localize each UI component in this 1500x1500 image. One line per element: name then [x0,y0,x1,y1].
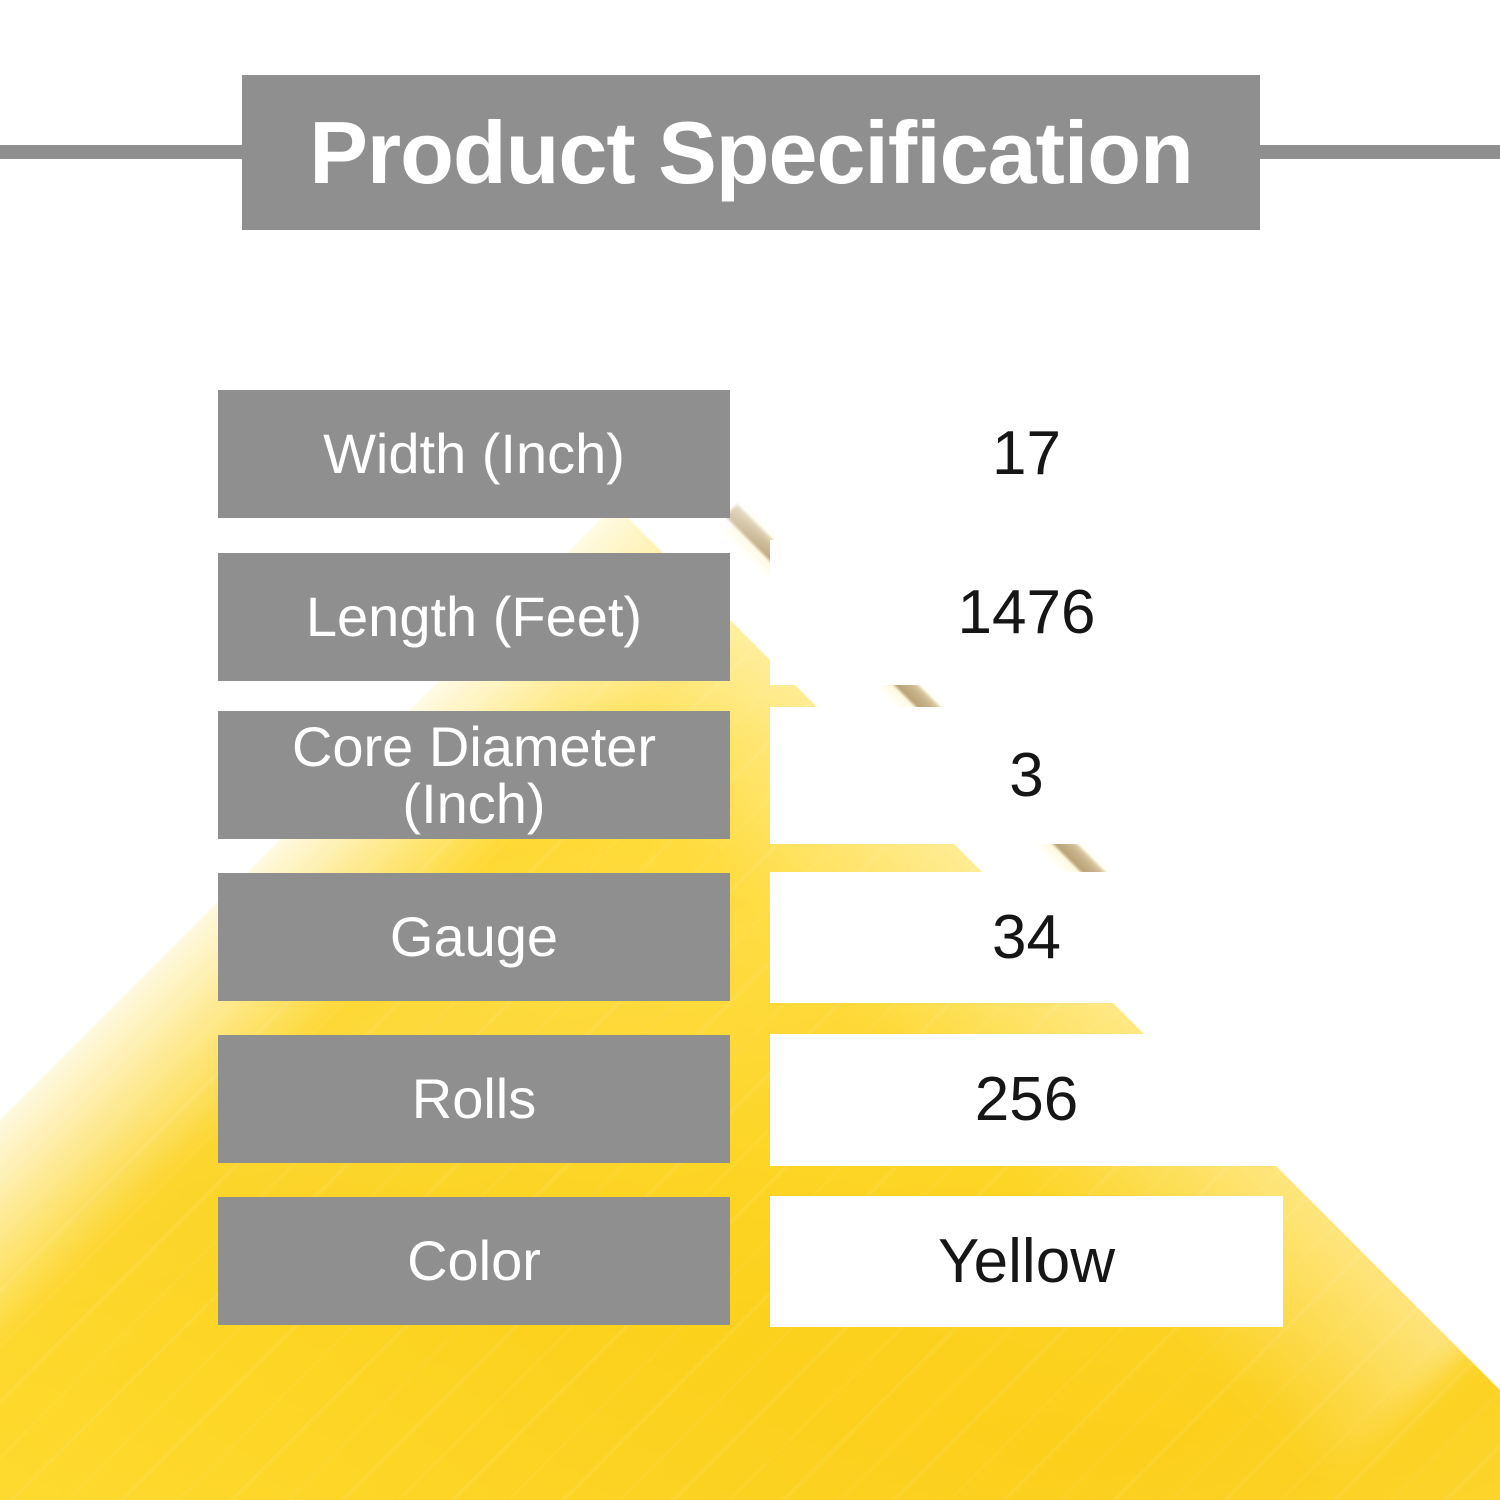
spec-label-color: Color [218,1197,730,1325]
spec-value-text: 256 [975,1069,1078,1131]
spec-value-core-diameter: 3 [770,707,1283,844]
spec-label-text: Core Diameter [292,718,656,775]
product-specification-card: Product Specification Width (Inch) 17 Le… [0,0,1500,1500]
spec-label-text: Gauge [390,908,558,965]
specification-table: Width (Inch) 17 Length (Feet) 1476 Core … [0,0,1500,1500]
spec-label-rolls: Rolls [218,1035,730,1163]
spec-value-rolls: 256 [770,1034,1283,1166]
spec-value-width: 17 [770,390,1283,518]
spec-value-length: 1476 [770,540,1283,685]
spec-value-text: 17 [992,423,1061,485]
spec-value-text: 3 [1009,745,1043,807]
spec-label-core-diameter: Core Diameter (Inch) [218,711,730,839]
spec-label-width: Width (Inch) [218,390,730,518]
spec-value-gauge: 34 [770,872,1283,1003]
spec-value-text: 1476 [958,582,1096,644]
spec-label-gauge: Gauge [218,873,730,1001]
spec-label-text: Width (Inch) [323,425,625,482]
spec-label-text: Rolls [412,1070,536,1127]
spec-label-text-line2: (Inch) [402,775,545,832]
spec-label-text: Length (Feet) [306,588,642,645]
spec-label-length: Length (Feet) [218,553,730,681]
spec-label-text: Color [407,1232,541,1289]
spec-value-color: Yellow [770,1196,1283,1327]
spec-value-text: 34 [992,907,1061,969]
spec-value-text: Yellow [938,1231,1115,1293]
